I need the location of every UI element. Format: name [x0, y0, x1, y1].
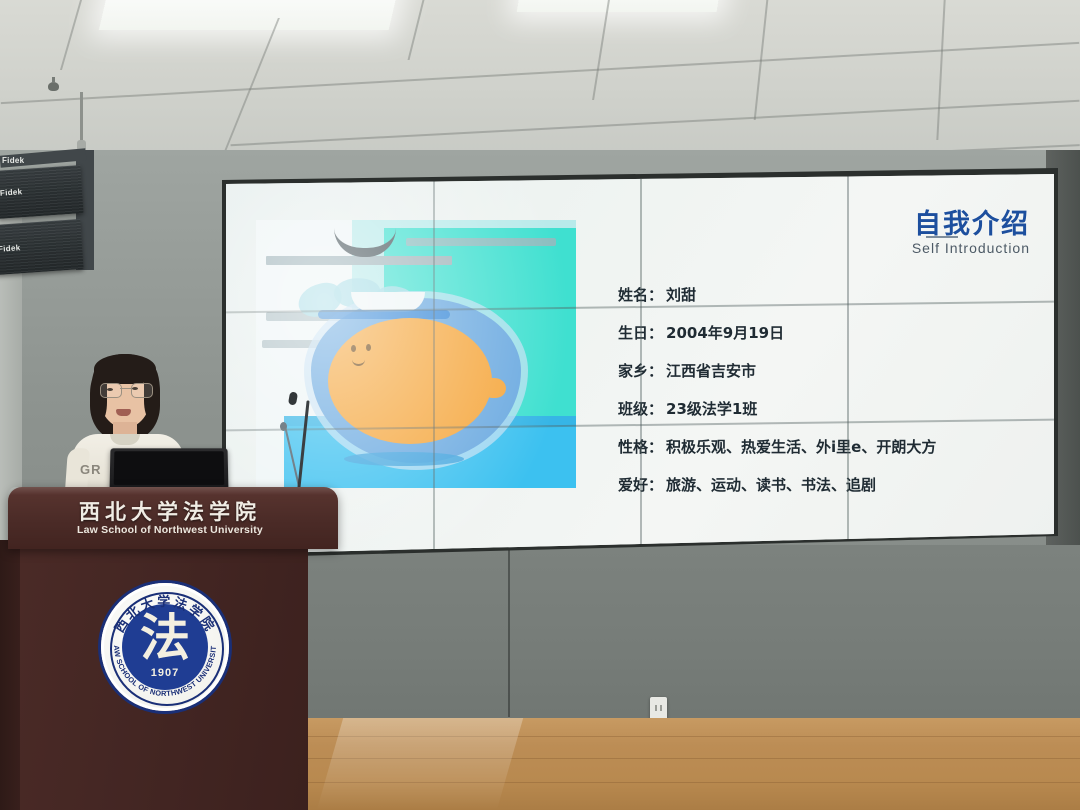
laptop[interactable] — [110, 448, 229, 490]
speaker-brand-label: Fidek — [0, 243, 21, 254]
panel-bezel-vertical — [433, 172, 435, 554]
fish-body — [328, 318, 492, 444]
panel-bezel-vertical — [640, 172, 642, 554]
ceiling-grid-line — [1, 42, 1079, 104]
info-value: 刘甜 — [666, 284, 696, 305]
fire-sprinkler-icon — [48, 82, 59, 91]
podium-title-en: Law School of Northwest University — [20, 524, 320, 536]
info-list: 姓名： 刘甜 生日： 2004年9月19日 家乡： 江西省吉安市 班级： 23级… — [618, 284, 1038, 512]
info-value: 积极乐观、热爱生活、外i里e、开朗大方 — [666, 436, 936, 457]
title-divider — [926, 236, 958, 238]
ceiling-grid-line — [592, 0, 610, 100]
slide-title-cn: 自我介绍 — [770, 202, 1030, 241]
speaker-brand-label: Fidek — [0, 187, 23, 198]
info-value: 23级法学1班 — [666, 398, 757, 419]
podium-title-cn: 西北大学法学院 — [20, 496, 320, 526]
lecture-hall-photo: Fidek Fidek Fidek — [0, 0, 1080, 810]
fish-eye-right — [366, 344, 371, 351]
university-seal: 法 1907 西北大学法学院 LAW SCHOOL OF NORTHWEST U… — [101, 583, 229, 711]
fish-eye-left — [351, 345, 356, 352]
slide-title-en: Self Introduction — [770, 240, 1030, 256]
screen-surface: 自我介绍 Self Introduction 姓名： 刘甜 生日： 2004年9… — [226, 172, 1054, 554]
floor-reflection — [317, 718, 523, 810]
recessed-light-panel — [99, 0, 401, 30]
fish-tail — [484, 378, 506, 398]
eyeglasses-icon — [100, 383, 151, 396]
lens-left — [100, 383, 122, 398]
panel-bezel-vertical — [847, 172, 849, 554]
video-wall-display[interactable]: 自我介绍 Self Introduction 姓名： 刘甜 生日： 2004年9… — [222, 168, 1058, 558]
presentation-slide: 自我介绍 Self Introduction 姓名： 刘甜 生日： 2004年9… — [226, 172, 1054, 554]
speaker-top-brand: Fidek — [2, 156, 24, 165]
illustration-shelf-top — [266, 256, 452, 265]
info-row-birthday: 生日： 2004年9月19日 — [618, 322, 1038, 343]
recessed-light-panel-2 — [517, 0, 724, 12]
info-row-personality: 性格： 积极乐观、热爱生活、外i里e、开朗大方 — [618, 436, 1038, 457]
info-row-hometown: 家乡： 江西省吉安市 — [618, 360, 1038, 381]
seal-arc-cn: 西北大学法学院 LAW SCHOOL OF NORTHWEST UNIVERSI… — [101, 583, 229, 711]
illustration-shelf-right — [406, 238, 556, 246]
info-row-hobbies: 爱好： 旅游、运动、读书、书法、追剧 — [618, 474, 1038, 495]
lens-right — [131, 383, 153, 398]
ceiling-grid-line — [408, 0, 425, 60]
svg-text:西北大学法学院: 西北大学法学院 — [112, 594, 218, 636]
mouth — [116, 409, 131, 416]
ceiling-grid-line — [936, 0, 945, 140]
glasses-bridge — [120, 388, 131, 389]
fidek-speaker-bottom: Fidek — [0, 219, 84, 275]
fidek-speaker-top: Fidek — [0, 165, 84, 219]
info-value: 2004年9月19日 — [666, 322, 784, 343]
speaker-mount-rod — [80, 92, 83, 144]
info-row-class: 班级： 23级法学1班 — [618, 398, 1038, 419]
ceiling-grid-line — [231, 100, 1080, 146]
wall-panel-seam — [508, 545, 510, 717]
info-value: 江西省吉安市 — [666, 360, 756, 381]
fishbowl-base-shadow — [344, 452, 464, 466]
laptop-screen — [114, 451, 225, 485]
ceiling-grid-line — [60, 0, 82, 70]
info-value: 旅游、运动、读书、书法、追剧 — [666, 474, 876, 495]
shirt-print-text: GR — [80, 462, 108, 480]
